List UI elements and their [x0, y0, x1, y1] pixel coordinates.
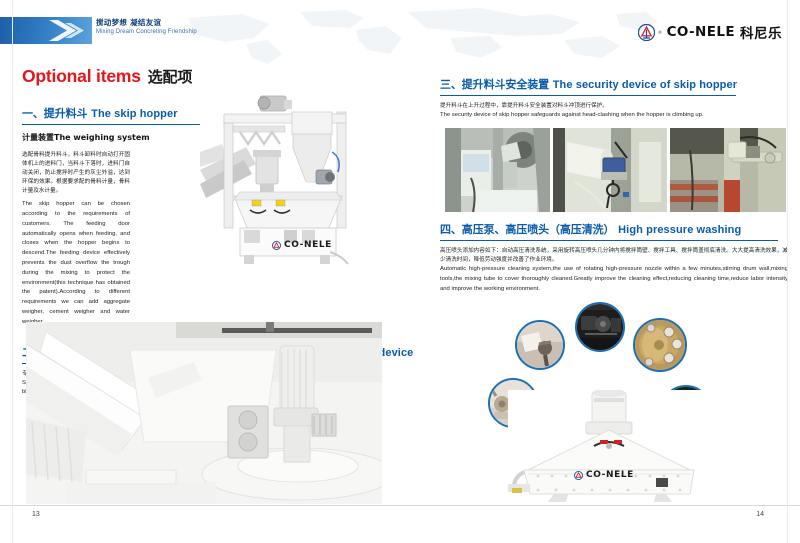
- page-number-right: 14: [756, 511, 764, 518]
- brochure-page: 搅动梦想 凝结友谊 Mixing Dream Concreting Friend…: [0, 0, 800, 543]
- photo-mixer-center: CO-NELE: [508, 390, 720, 502]
- section4-underline: [440, 240, 778, 241]
- tagline-chinese: 搅动梦想 凝结友谊: [96, 19, 197, 27]
- brand-logo: ® CO-NELE 科尼乐: [638, 22, 782, 42]
- conele-emblem-icon-small: [272, 241, 281, 250]
- section4-heading: 四、高压泵、高压喷头（高压清洗） High pressure washing: [440, 221, 788, 237]
- page-title: Optional items选配项: [22, 66, 382, 87]
- section1-heading-cn: 一、提升料斗: [22, 107, 87, 120]
- conele-emblem-icon: [638, 24, 655, 41]
- photo-security-1: [445, 128, 550, 212]
- section-security-device: 三、提升料斗安全装置 The security device of skip h…: [440, 76, 788, 121]
- machine-brand-text-hopper: CO-NELE: [284, 240, 332, 250]
- photo-nozzle-3: [633, 318, 687, 372]
- page-number-left: 13: [32, 511, 40, 518]
- section3-body-chinese: 提升料斗在上升过程中，靠提升料斗安全装置对料斗冲顶进行保护。: [440, 102, 788, 111]
- photo-security-3: [670, 128, 786, 212]
- section3-body-english: The security device of skip hopper safeg…: [440, 111, 788, 121]
- section3-heading-cn: 三、提升料斗安全装置: [440, 78, 549, 91]
- page-edge-right: [787, 0, 788, 543]
- page-title-chinese: 选配项: [148, 68, 192, 86]
- section-high-pressure-washing: 四、高压泵、高压喷头（高压清洗） High pressure washing 高…: [440, 221, 788, 294]
- page-header: 搅动梦想 凝结友谊 Mixing Dream Concreting Friend…: [0, 0, 800, 62]
- page-title-english: Optional items: [22, 66, 141, 86]
- registered-trademark-mark: ®: [658, 30, 661, 35]
- section3-underline: [440, 95, 736, 96]
- brand-name-chinese: 科尼乐: [740, 22, 782, 42]
- page-edge-left: [12, 0, 13, 543]
- section3-heading: 三、提升料斗安全装置 The security device of skip h…: [440, 76, 788, 92]
- company-logo-mark: [0, 17, 92, 44]
- section3-heading-en: The security device of skip hopper: [553, 79, 737, 91]
- section1-body-chinese: 选配骨料提升料斗，料斗卸料时自动打开固体机上的进料门，当料斗下落时，进料门自动关…: [22, 151, 130, 196]
- section4-body-english: Automatic high-pressure cleaning system,…: [440, 265, 788, 294]
- section1-underline: [22, 124, 210, 125]
- section4-heading-en: High pressure washing: [618, 224, 741, 236]
- section4-body-chinese: 高压喷头添加内容如下：自动高压清洗系统，采用旋转高压喷头几分钟内将搅拌筒壁、搅拌…: [440, 247, 788, 265]
- machine-brand-badge-mixer: CO-NELE: [574, 470, 634, 480]
- photo-skip-hopper: CO-NELE: [200, 92, 400, 267]
- tagline-english: Mixing Dream Concreting Friendship: [96, 29, 197, 35]
- machine-brand-badge-hopper: CO-NELE: [272, 240, 332, 250]
- company-tagline: 搅动梦想 凝结友谊 Mixing Dream Concreting Friend…: [96, 19, 197, 35]
- photo-security-2: [553, 128, 667, 212]
- section4-heading-cn: 四、高压泵、高压喷头（高压清洗）: [440, 223, 614, 236]
- machine-brand-text-mixer: CO-NELE: [586, 470, 634, 480]
- photo-nozzle-2: [575, 302, 625, 352]
- section1-heading-en: The skip hopper: [91, 108, 177, 120]
- photo-feeding-device: [26, 322, 382, 504]
- footer-divider: [0, 505, 800, 506]
- section1-body-english: The skip hopper can be chosen according …: [22, 200, 130, 327]
- photo-nozzle-1: [515, 320, 565, 370]
- brand-name-english: CO-NELE: [667, 24, 735, 40]
- conele-emblem-icon-mixer: [574, 471, 583, 480]
